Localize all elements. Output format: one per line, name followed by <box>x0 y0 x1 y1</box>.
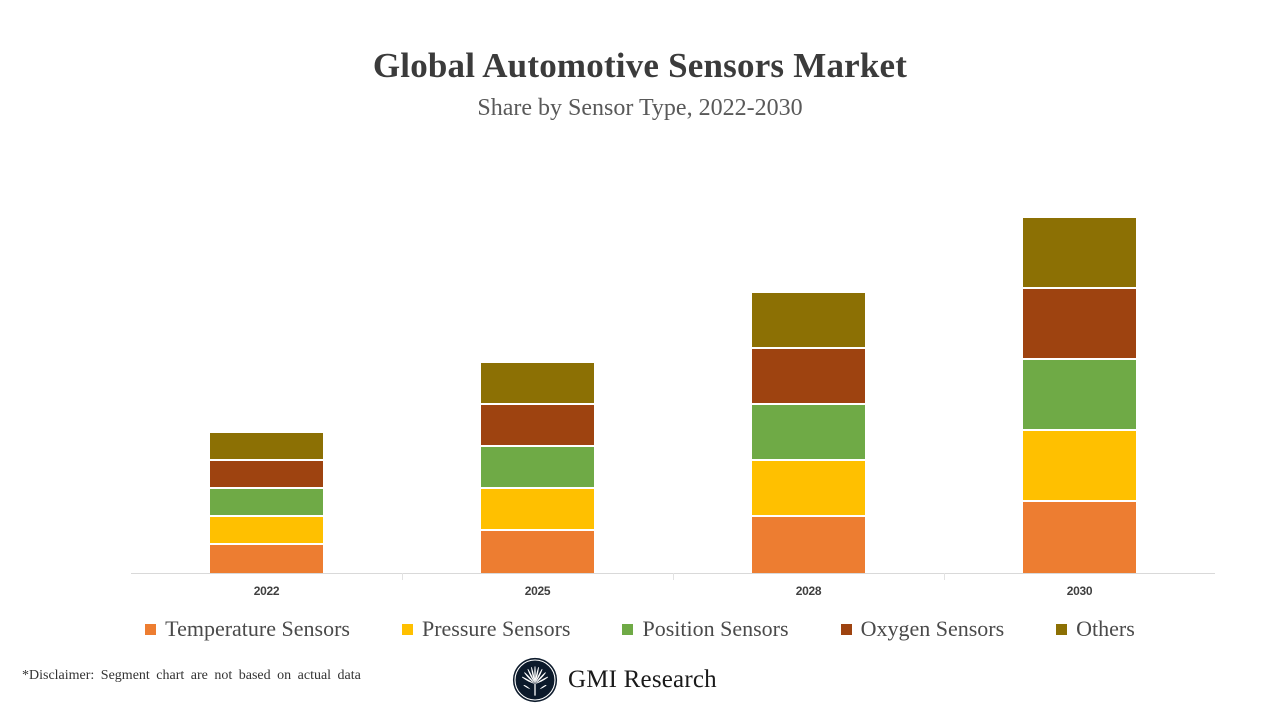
legend-item[interactable]: Position Sensors <box>622 616 788 642</box>
bar-segment[interactable] <box>1023 289 1136 360</box>
x-axis-label: 2028 <box>673 584 944 598</box>
bar-segment[interactable] <box>210 433 323 461</box>
bar-segment[interactable] <box>481 363 594 405</box>
brand-block: GMI Research <box>512 657 717 703</box>
x-axis-label: 2022 <box>131 584 402 598</box>
legend-item[interactable]: Others <box>1056 616 1135 642</box>
legend-swatch-icon <box>402 624 413 635</box>
bar-segment[interactable] <box>1023 218 1136 289</box>
bar-segment[interactable] <box>210 517 323 545</box>
legend-item[interactable]: Oxygen Sensors <box>841 616 1005 642</box>
x-axis-label: 2030 <box>944 584 1215 598</box>
bar-segment[interactable] <box>1023 502 1136 573</box>
gmi-palm-logo-icon <box>512 657 558 703</box>
x-axis-label: 2025 <box>402 584 673 598</box>
stacked-bar[interactable] <box>752 293 865 573</box>
x-axis-tick <box>402 573 403 580</box>
stacked-bar[interactable] <box>1023 218 1136 573</box>
bar-segment[interactable] <box>752 517 865 573</box>
bar-segment[interactable] <box>481 531 594 573</box>
legend-label: Oxygen Sensors <box>861 616 1005 642</box>
bar-segment[interactable] <box>752 461 865 517</box>
legend-swatch-icon <box>841 624 852 635</box>
legend-label: Position Sensors <box>642 616 788 642</box>
legend-swatch-icon <box>622 624 633 635</box>
legend-label: Temperature Sensors <box>165 616 350 642</box>
legend-swatch-icon <box>145 624 156 635</box>
x-axis-tick <box>673 573 674 580</box>
disclaimer-text: *Disclaimer: Segment chart are not based… <box>22 668 361 684</box>
legend-item[interactable]: Pressure Sensors <box>402 616 571 642</box>
bar-segment[interactable] <box>752 405 865 461</box>
chart-legend: Temperature SensorsPressure SensorsPosit… <box>0 616 1280 642</box>
chart-subtitle: Share by Sensor Type, 2022-2030 <box>0 92 1280 124</box>
bar-segment[interactable] <box>1023 431 1136 502</box>
bar-segment[interactable] <box>481 489 594 531</box>
stacked-bar[interactable] <box>210 433 323 573</box>
bar-segment[interactable] <box>752 349 865 405</box>
bar-segment[interactable] <box>481 405 594 447</box>
bar-segment[interactable] <box>752 293 865 349</box>
x-axis-tick <box>944 573 945 580</box>
bar-segment[interactable] <box>481 447 594 489</box>
brand-name: GMI Research <box>568 666 717 694</box>
stacked-bar[interactable] <box>481 363 594 573</box>
legend-label: Others <box>1076 616 1135 642</box>
legend-swatch-icon <box>1056 624 1067 635</box>
bar-segment[interactable] <box>1023 360 1136 431</box>
bar-segment[interactable] <box>210 461 323 489</box>
legend-item[interactable]: Temperature Sensors <box>145 616 350 642</box>
bar-segment[interactable] <box>210 545 323 573</box>
chart-title: Global Automotive Sensors Market <box>0 44 1280 88</box>
legend-label: Pressure Sensors <box>422 616 571 642</box>
bar-segment[interactable] <box>210 489 323 517</box>
